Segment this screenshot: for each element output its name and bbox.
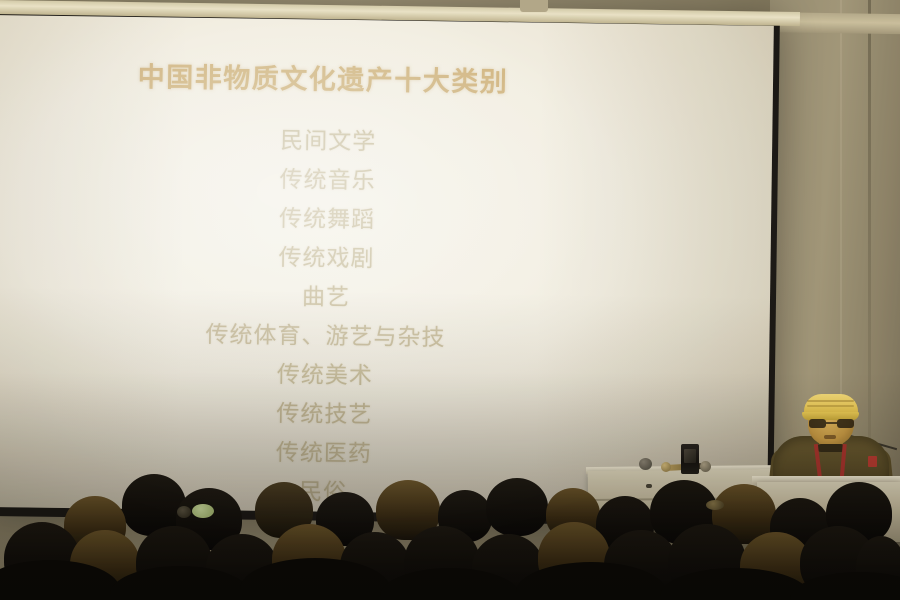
slide-title: 中国非物质文化遗产十大类别 [0, 53, 653, 101]
speaker-cap-ridge [807, 400, 854, 402]
hair-accessory [177, 506, 191, 518]
speaker-cap-ridge [807, 405, 854, 407]
speaker-glasses [809, 419, 854, 428]
speaker-glasses-lens-right [837, 419, 854, 428]
screen-roller-mount [520, 0, 548, 12]
slide-list-item: 传统舞蹈 [279, 200, 376, 240]
hair-accessory-green [192, 504, 214, 518]
audience-head [486, 478, 548, 536]
slide-list-item: 曲艺 [302, 278, 351, 318]
slide-list-item: 传统音乐 [279, 161, 376, 201]
hair-accessory-band [706, 500, 724, 510]
slide-list-item: 民间文学 [280, 122, 377, 162]
speaker-glasses-bridge [826, 422, 837, 424]
speaker-glasses-lens-left [809, 419, 826, 428]
lecture-hall-photo: 中国非物质文化遗产十大类别 民间文学 传统音乐 传统舞蹈 传统戏剧 曲艺 传统体… [0, 0, 900, 600]
audience [0, 430, 900, 600]
slide-list-item: 传统美术 [277, 356, 374, 396]
slide-list-item: 传统戏剧 [278, 239, 375, 279]
slide-list-item: 传统体育、游艺与杂技 [205, 316, 446, 358]
